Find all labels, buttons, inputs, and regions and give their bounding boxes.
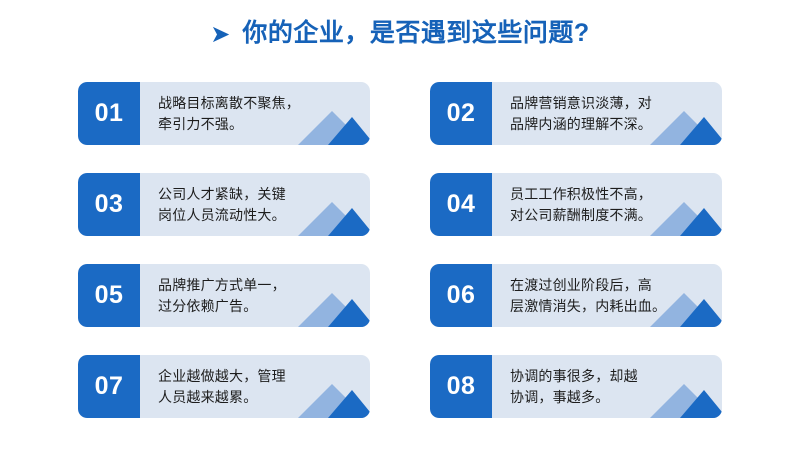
problem-card[interactable]: 05 品牌推广方式单一， 过分依赖广告。 [78, 264, 370, 327]
card-text: 企业越做越大，管理 人员越来越累。 [158, 366, 286, 407]
card-number-badge: 01 [78, 82, 140, 145]
problem-card[interactable]: 07 企业越做越大，管理 人员越来越累。 [78, 355, 370, 418]
problem-card[interactable]: 06 在渡过创业阶段后，高 层激情消失，内耗出血。 [430, 264, 722, 327]
problem-card[interactable]: 04 员工工作积极性不高， 对公司薪酬制度不满。 [430, 173, 722, 236]
card-text: 公司人才紧缺，关键 岗位人员流动性大。 [158, 184, 286, 225]
card-body: 企业越做越大，管理 人员越来越累。 [140, 355, 370, 418]
card-body: 战略目标离散不聚焦， 牵引力不强。 [140, 82, 370, 145]
card-number-badge: 05 [78, 264, 140, 327]
problem-card[interactable]: 03 公司人才紧缺，关键 岗位人员流动性大。 [78, 173, 370, 236]
card-body: 品牌推广方式单一， 过分依赖广告。 [140, 264, 370, 327]
card-text: 战略目标离散不聚焦， 牵引力不强。 [158, 93, 300, 134]
card-number-badge: 06 [430, 264, 492, 327]
card-number-badge: 08 [430, 355, 492, 418]
card-body: 员工工作积极性不高， 对公司薪酬制度不满。 [492, 173, 722, 236]
card-text: 在渡过创业阶段后，高 层激情消失，内耗出血。 [510, 275, 666, 316]
problem-card[interactable]: 02 品牌营销意识淡薄，对 品牌内涵的理解不深。 [430, 82, 722, 145]
card-text: 品牌推广方式单一， 过分依赖广告。 [158, 275, 286, 316]
card-number-badge: 02 [430, 82, 492, 145]
card-body: 品牌营销意识淡薄，对 品牌内涵的理解不深。 [492, 82, 722, 145]
card-body: 协调的事很多，却越 协调，事越多。 [492, 355, 722, 418]
page-title-text: 你的企业，是否遇到这些问题? [242, 20, 589, 48]
card-body: 公司人才紧缺，关键 岗位人员流动性大。 [140, 173, 370, 236]
card-number-badge: 03 [78, 173, 140, 236]
arrow-right-triangle-icon: ➤ [210, 23, 230, 47]
card-text: 协调的事很多，却越 协调，事越多。 [510, 366, 638, 407]
card-body: 在渡过创业阶段后，高 层激情消失，内耗出血。 [492, 264, 722, 327]
problem-card[interactable]: 08 协调的事很多，却越 协调，事越多。 [430, 355, 722, 418]
card-text: 员工工作积极性不高， 对公司薪酬制度不满。 [510, 184, 652, 225]
slide-canvas: ➤ 你的企业，是否遇到这些问题? 01 战略目标离散不聚焦， 牵引力不强。 02… [0, 0, 800, 450]
problem-card[interactable]: 01 战略目标离散不聚焦， 牵引力不强。 [78, 82, 370, 145]
card-number-badge: 07 [78, 355, 140, 418]
card-text: 品牌营销意识淡薄，对 品牌内涵的理解不深。 [510, 93, 652, 134]
page-title: ➤ 你的企业，是否遇到这些问题? [0, 20, 800, 48]
card-number-badge: 04 [430, 173, 492, 236]
problem-card-grid: 01 战略目标离散不聚焦， 牵引力不强。 02 品牌营销意识淡薄，对 品牌内涵的… [78, 82, 722, 418]
